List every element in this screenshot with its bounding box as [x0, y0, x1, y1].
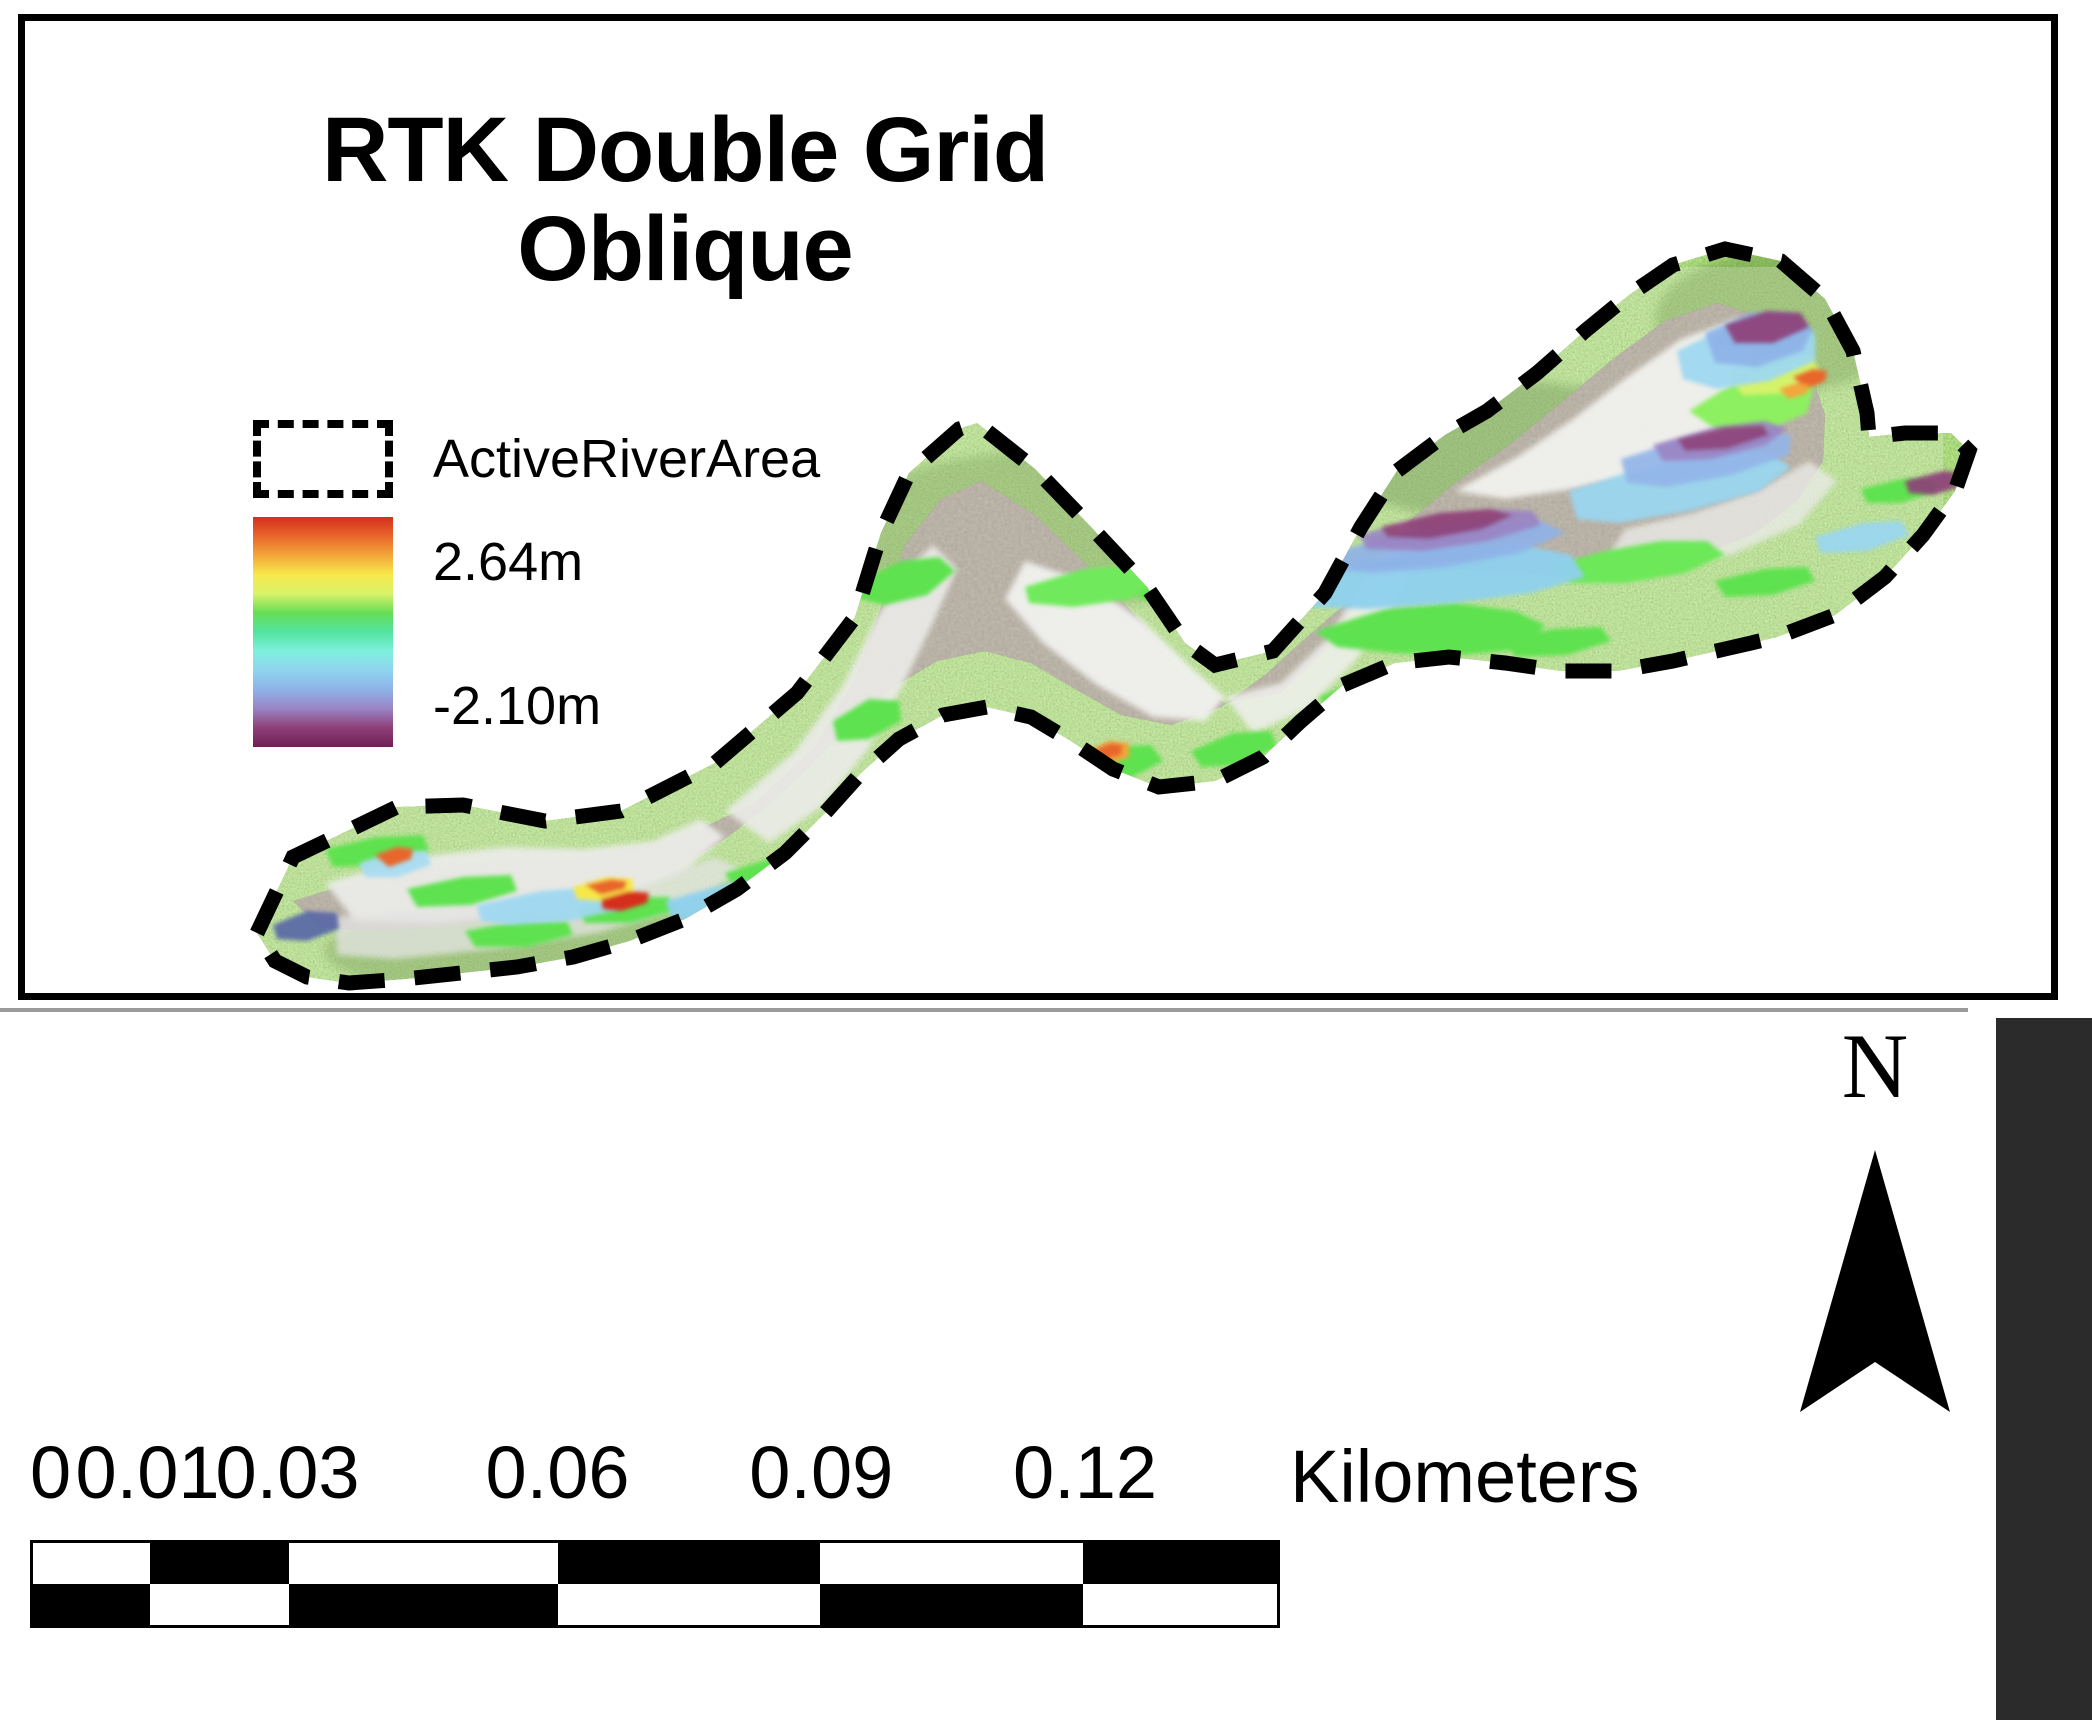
bottom-divider [0, 1008, 1968, 1012]
scale-tick-label: 0 [30, 1436, 71, 1510]
scale-tick-label: 0.06 [485, 1436, 629, 1510]
scale-bar-cell [150, 1584, 289, 1625]
scale-bar-cell [289, 1584, 558, 1625]
scale-bar-cell [1083, 1584, 1277, 1625]
scale-bar-cell [820, 1543, 1082, 1584]
scale-bar-cell [820, 1584, 1082, 1625]
scale-tick-label: 0.03 [215, 1436, 359, 1510]
legend-item-elevation-ramp: 2.64m -2.10m [253, 517, 873, 747]
map-frame: RTK Double Grid Oblique ActiveRiverArea … [18, 14, 2058, 1000]
scale-bar-cell [1083, 1543, 1277, 1584]
side-panel [1996, 1018, 2092, 1720]
scale-bar-ticks: 00.010.030.060.090.12 [30, 1428, 1310, 1510]
scale-bar-cell [289, 1543, 558, 1584]
scale-bar-cell [33, 1543, 150, 1584]
map-legend: ActiveRiverArea 2.64m -2.10m [253, 413, 873, 747]
ramp-max-label: 2.64m [433, 535, 601, 589]
legend-label-active-river-area: ActiveRiverArea [433, 432, 820, 486]
elevation-color-ramp-icon [253, 517, 393, 747]
legend-item-active-river-area: ActiveRiverArea [253, 413, 873, 505]
north-arrow: N [1790, 1020, 1960, 1680]
scale-bar-cell [558, 1584, 820, 1625]
scale-tick-label: 0.01 [75, 1436, 219, 1510]
scale-bar-units-label: Kilometers [1290, 1440, 1640, 1514]
scale-bar: 00.010.030.060.090.12 [30, 1428, 1310, 1628]
scale-bar-cell [558, 1543, 820, 1584]
elevation-ramp-labels: 2.64m -2.10m [433, 517, 601, 747]
scale-bar-graphic [30, 1540, 1280, 1628]
page-title: RTK Double Grid Oblique [265, 101, 1105, 300]
north-arrow-icon [1798, 1150, 1952, 1420]
scale-bar-cell [33, 1584, 150, 1625]
scale-tick-label: 0.12 [1013, 1436, 1157, 1510]
map-bottom-bar: 00.010.030.060.090.12 Kilometers N [0, 1008, 2092, 1720]
scale-tick-label: 0.09 [749, 1436, 893, 1510]
active-river-area-swatch-icon [253, 420, 393, 498]
north-label: N [1790, 1020, 1960, 1112]
scale-bar-cell [150, 1543, 289, 1584]
ramp-min-label: -2.10m [433, 679, 601, 733]
